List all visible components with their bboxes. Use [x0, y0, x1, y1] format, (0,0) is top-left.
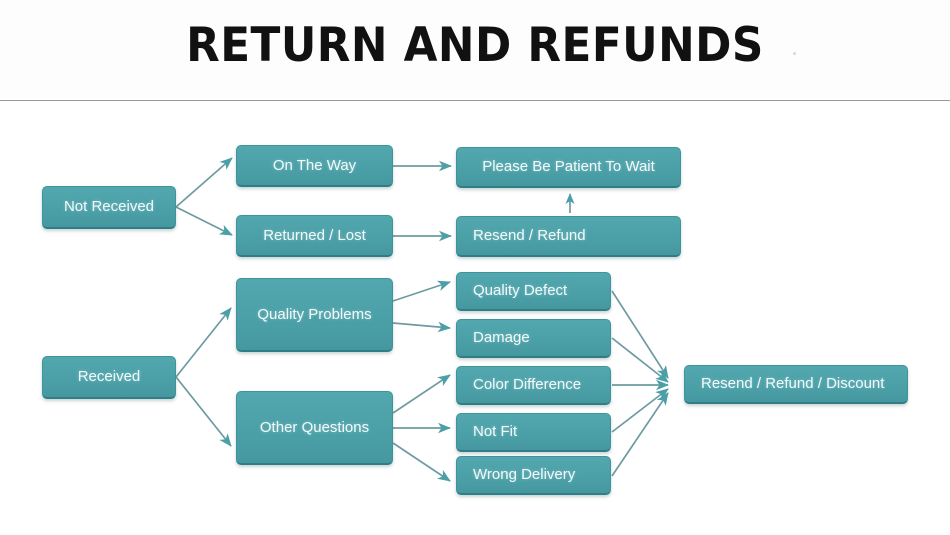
- page-title: RETURN AND REFUNDS: [33, 18, 917, 73]
- edge-quality-defect-to-resend-refund-discount: [612, 291, 668, 378]
- edge-wrong-delivery-to-resend-refund-discount: [612, 393, 668, 476]
- diagram-canvas: Not Received Received On The Way Returne…: [0, 101, 950, 535]
- edge-other-questions-to-wrong-delivery: [393, 443, 450, 481]
- node-label: On The Way: [273, 157, 356, 174]
- node-resend-refund-discount[interactable]: Resend / Refund / Discount: [684, 365, 908, 404]
- node-label: Resend / Refund / Discount: [701, 375, 884, 392]
- node-received[interactable]: Received: [42, 356, 176, 399]
- edge-other-questions-to-color-difference: [393, 375, 450, 413]
- flowchart-page: RETURN AND REFUNDS: [0, 0, 950, 535]
- node-label: Received: [78, 368, 141, 385]
- node-label: Returned / Lost: [263, 227, 366, 244]
- node-quality-problems[interactable]: Quality Problems: [236, 278, 393, 352]
- edge-quality-problems-to-damage: [393, 323, 450, 328]
- node-resend-refund[interactable]: Resend / Refund: [456, 216, 681, 257]
- edge-quality-problems-to-quality-defect: [393, 282, 450, 301]
- edge-received-to-quality-problems: [176, 308, 231, 377]
- node-wrong-delivery[interactable]: Wrong Delivery: [456, 456, 611, 495]
- edge-received-to-other-questions: [176, 377, 231, 446]
- node-not-received[interactable]: Not Received: [42, 186, 176, 229]
- node-label: Wrong Delivery: [473, 466, 575, 483]
- node-label: Quality Defect: [473, 282, 567, 299]
- node-quality-defect[interactable]: Quality Defect: [456, 272, 611, 311]
- node-label: Other Questions: [260, 419, 369, 436]
- edge-damage-to-resend-refund-discount: [612, 338, 668, 382]
- node-please-be-patient-to-wait[interactable]: Please Be Patient To Wait: [456, 147, 681, 188]
- node-label: Color Difference: [473, 376, 581, 393]
- node-other-questions[interactable]: Other Questions: [236, 391, 393, 465]
- node-label: Please Be Patient To Wait: [482, 158, 655, 175]
- node-on-the-way[interactable]: On The Way: [236, 145, 393, 187]
- node-label: Resend / Refund: [473, 227, 586, 244]
- node-color-difference[interactable]: Color Difference: [456, 366, 611, 405]
- edge-not-received-to-returned-lost: [176, 207, 232, 235]
- decorative-speck: [793, 52, 796, 55]
- node-returned-lost[interactable]: Returned / Lost: [236, 215, 393, 257]
- edge-not-received-to-on-the-way: [176, 158, 232, 207]
- node-label: Not Received: [64, 198, 154, 215]
- edge-not-fit-to-resend-refund-discount: [612, 389, 668, 432]
- node-label: Damage: [473, 329, 530, 346]
- node-damage[interactable]: Damage: [456, 319, 611, 358]
- page-header: RETURN AND REFUNDS: [0, 0, 950, 101]
- node-label: Not Fit: [473, 423, 517, 440]
- node-not-fit[interactable]: Not Fit: [456, 413, 611, 452]
- node-label: Quality Problems: [257, 306, 371, 323]
